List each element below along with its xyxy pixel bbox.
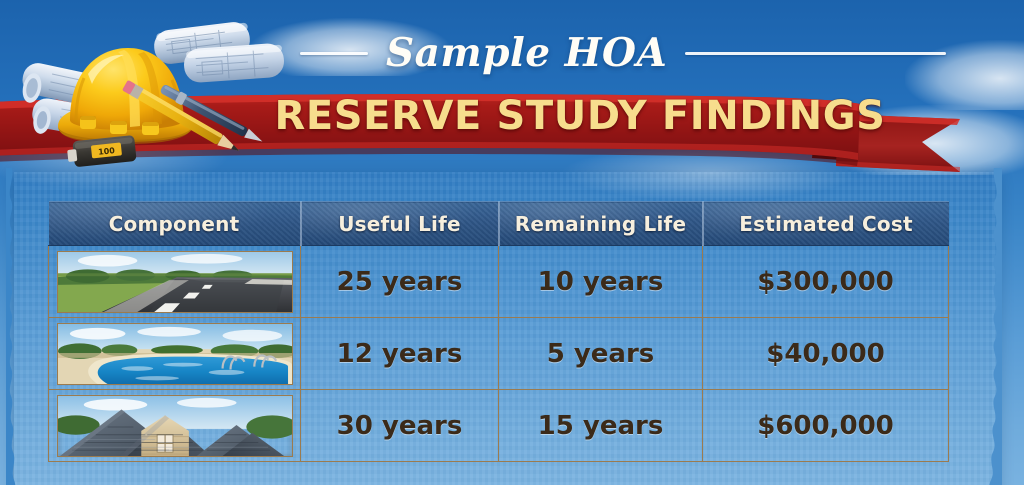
asphalt-road-pavement-photo bbox=[57, 251, 293, 313]
reserve-components-table: Component Useful Life Remaining Life Est… bbox=[48, 201, 949, 462]
table-row: 12 years 5 years $40,000 bbox=[49, 318, 949, 390]
swimming-pool-photo bbox=[57, 323, 293, 385]
column-header-remaining-life: Remaining Life bbox=[499, 202, 703, 246]
table-header-row: Component Useful Life Remaining Life Est… bbox=[49, 202, 949, 246]
shingle-roof-photo bbox=[57, 395, 293, 457]
remaining-life-cell: 10 years bbox=[499, 246, 703, 318]
column-header-estimated-cost: Estimated Cost bbox=[703, 202, 949, 246]
table-row: 30 years 15 years $600,000 bbox=[49, 390, 949, 462]
remaining-life-cell: 5 years bbox=[499, 318, 703, 390]
estimated-cost-cell: $600,000 bbox=[703, 390, 949, 462]
useful-life-cell: 12 years bbox=[301, 318, 499, 390]
component-cell bbox=[49, 318, 301, 390]
table-row: 25 years 10 years $300,000 bbox=[49, 246, 949, 318]
useful-life-cell: 25 years bbox=[301, 246, 499, 318]
remaining-life-cell: 15 years bbox=[499, 390, 703, 462]
hard-hat-blueprints-illustration: 100 bbox=[6, 8, 306, 180]
rule-left bbox=[300, 52, 368, 55]
blueprint-roll-back-2 bbox=[183, 43, 285, 84]
component-cell bbox=[49, 390, 301, 462]
estimated-cost-cell: $40,000 bbox=[703, 318, 949, 390]
column-header-useful-life: Useful Life bbox=[301, 202, 499, 246]
useful-life-cell: 30 years bbox=[301, 390, 499, 462]
rule-right bbox=[685, 52, 946, 55]
svg-text:100: 100 bbox=[98, 146, 116, 157]
banner-title: RESERVE STUDY FINDINGS bbox=[270, 92, 890, 140]
component-cell bbox=[49, 246, 301, 318]
column-header-component: Component bbox=[49, 202, 301, 246]
reserve-study-infographic: Sample HOA bbox=[0, 0, 1024, 485]
estimated-cost-cell: $300,000 bbox=[703, 246, 949, 318]
script-title: Sample HOA bbox=[386, 30, 667, 76]
